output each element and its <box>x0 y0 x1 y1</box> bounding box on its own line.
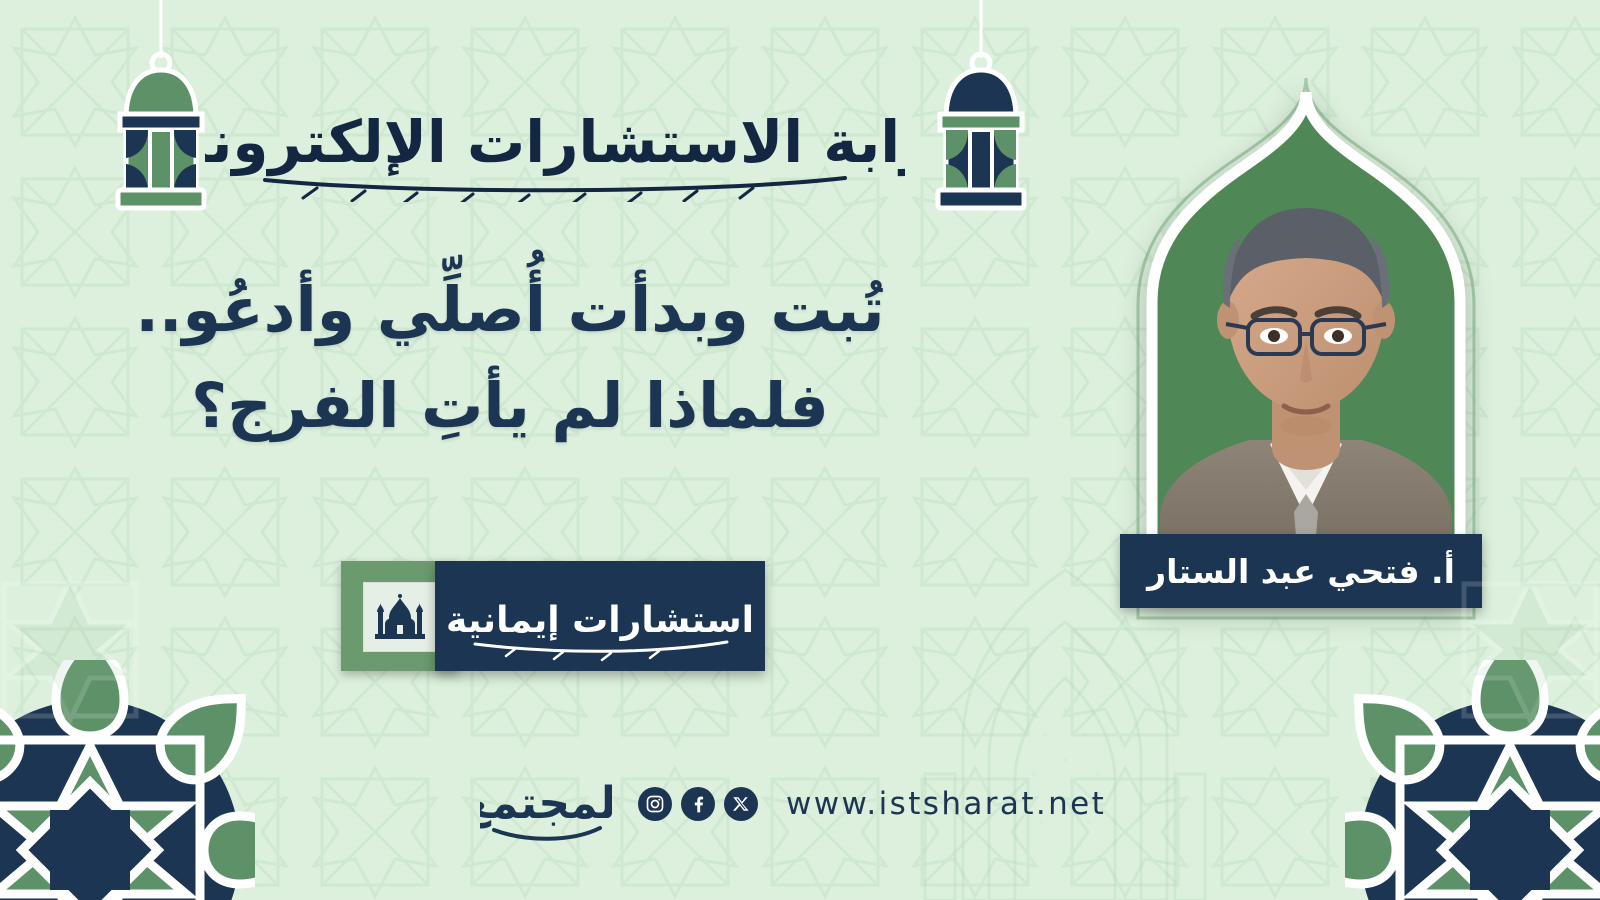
brand-logo-text: المجتمع <box>480 778 612 829</box>
badge-icon-well <box>363 582 437 652</box>
x-icon[interactable] <box>724 787 758 821</box>
islamic-rosette <box>1345 660 1600 900</box>
page-title-text: بوابة الاستشارات الإلكترونية <box>205 108 905 177</box>
brand-logo: المجتمع <box>480 756 612 852</box>
facebook-icon[interactable] <box>681 787 715 821</box>
page-title: بوابة الاستشارات الإلكترونية <box>205 62 905 202</box>
social-links <box>638 787 758 821</box>
lantern-icon <box>918 0 1044 214</box>
author-portrait <box>1120 88 1492 608</box>
headline-line-1: تُبت وبدأت أُصلِّي وأدعُو.. <box>70 262 950 358</box>
website-url[interactable]: www.istsharat.net <box>786 786 1106 822</box>
poster-canvas: بوابة الاستشارات الإلكترونية تُبت وبدأت … <box>0 0 1600 900</box>
headline: تُبت وبدأت أُصلِّي وأدعُو.. فلماذا لم يأ… <box>70 262 950 454</box>
mosque-icon <box>372 594 428 640</box>
instagram-icon[interactable] <box>638 787 672 821</box>
category-badge[interactable]: استشارات إيمانية <box>341 561 765 671</box>
category-badge-label: استشارات إيمانية <box>446 600 754 641</box>
portrait-image <box>1120 88 1492 608</box>
author-name-label: أ. فتحي عبد الستار <box>1147 552 1455 591</box>
author-name-badge: أ. فتحي عبد الستار <box>1120 534 1482 608</box>
footer: المجتمع www.istsharat <box>480 752 1120 856</box>
headline-line-2: فلماذا لم يأتِ الفرج؟ <box>70 358 950 454</box>
badge-label-panel: استشارات إيمانية <box>435 561 765 671</box>
islamic-rosette <box>0 660 255 900</box>
islamic-rosette-ghost <box>0 550 170 750</box>
